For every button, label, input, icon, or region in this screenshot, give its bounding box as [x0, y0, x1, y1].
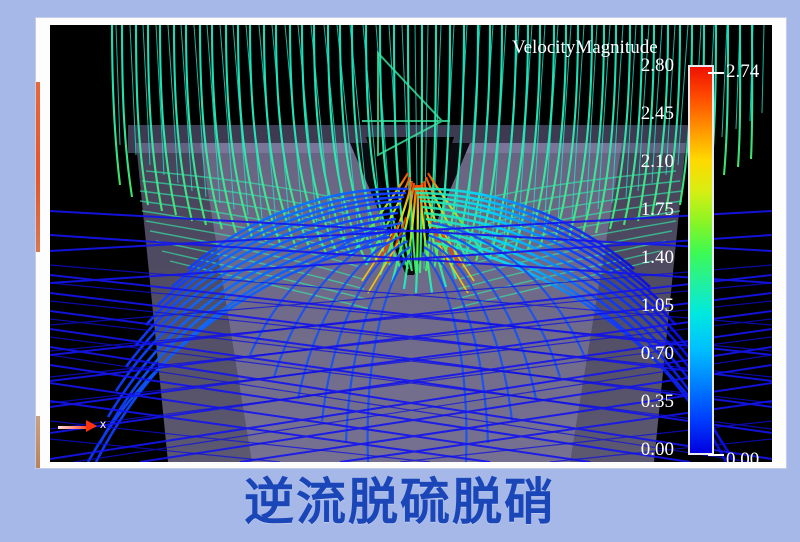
page-background: VelocityMagnitude 2.80 2.45 2.10 1.75 1.…: [0, 0, 800, 542]
cfd-viewport[interactable]: VelocityMagnitude 2.80 2.45 2.10 1.75 1.…: [50, 25, 772, 462]
image-frame: VelocityMagnitude 2.80 2.45 2.10 1.75 1.…: [36, 18, 786, 468]
x-axis-arrow-head-icon: [86, 420, 97, 432]
frame-left-accent-strip: [36, 82, 40, 252]
figure-caption: 逆流脱硫脱硝: [0, 472, 800, 532]
x-axis-arrow-shaft: [58, 426, 88, 429]
axis-orientation-widget: x: [58, 416, 116, 438]
x-axis-label: x: [100, 417, 106, 431]
streamline-scene: [50, 25, 772, 462]
frame-left-accent-strip-lower: [36, 416, 40, 468]
